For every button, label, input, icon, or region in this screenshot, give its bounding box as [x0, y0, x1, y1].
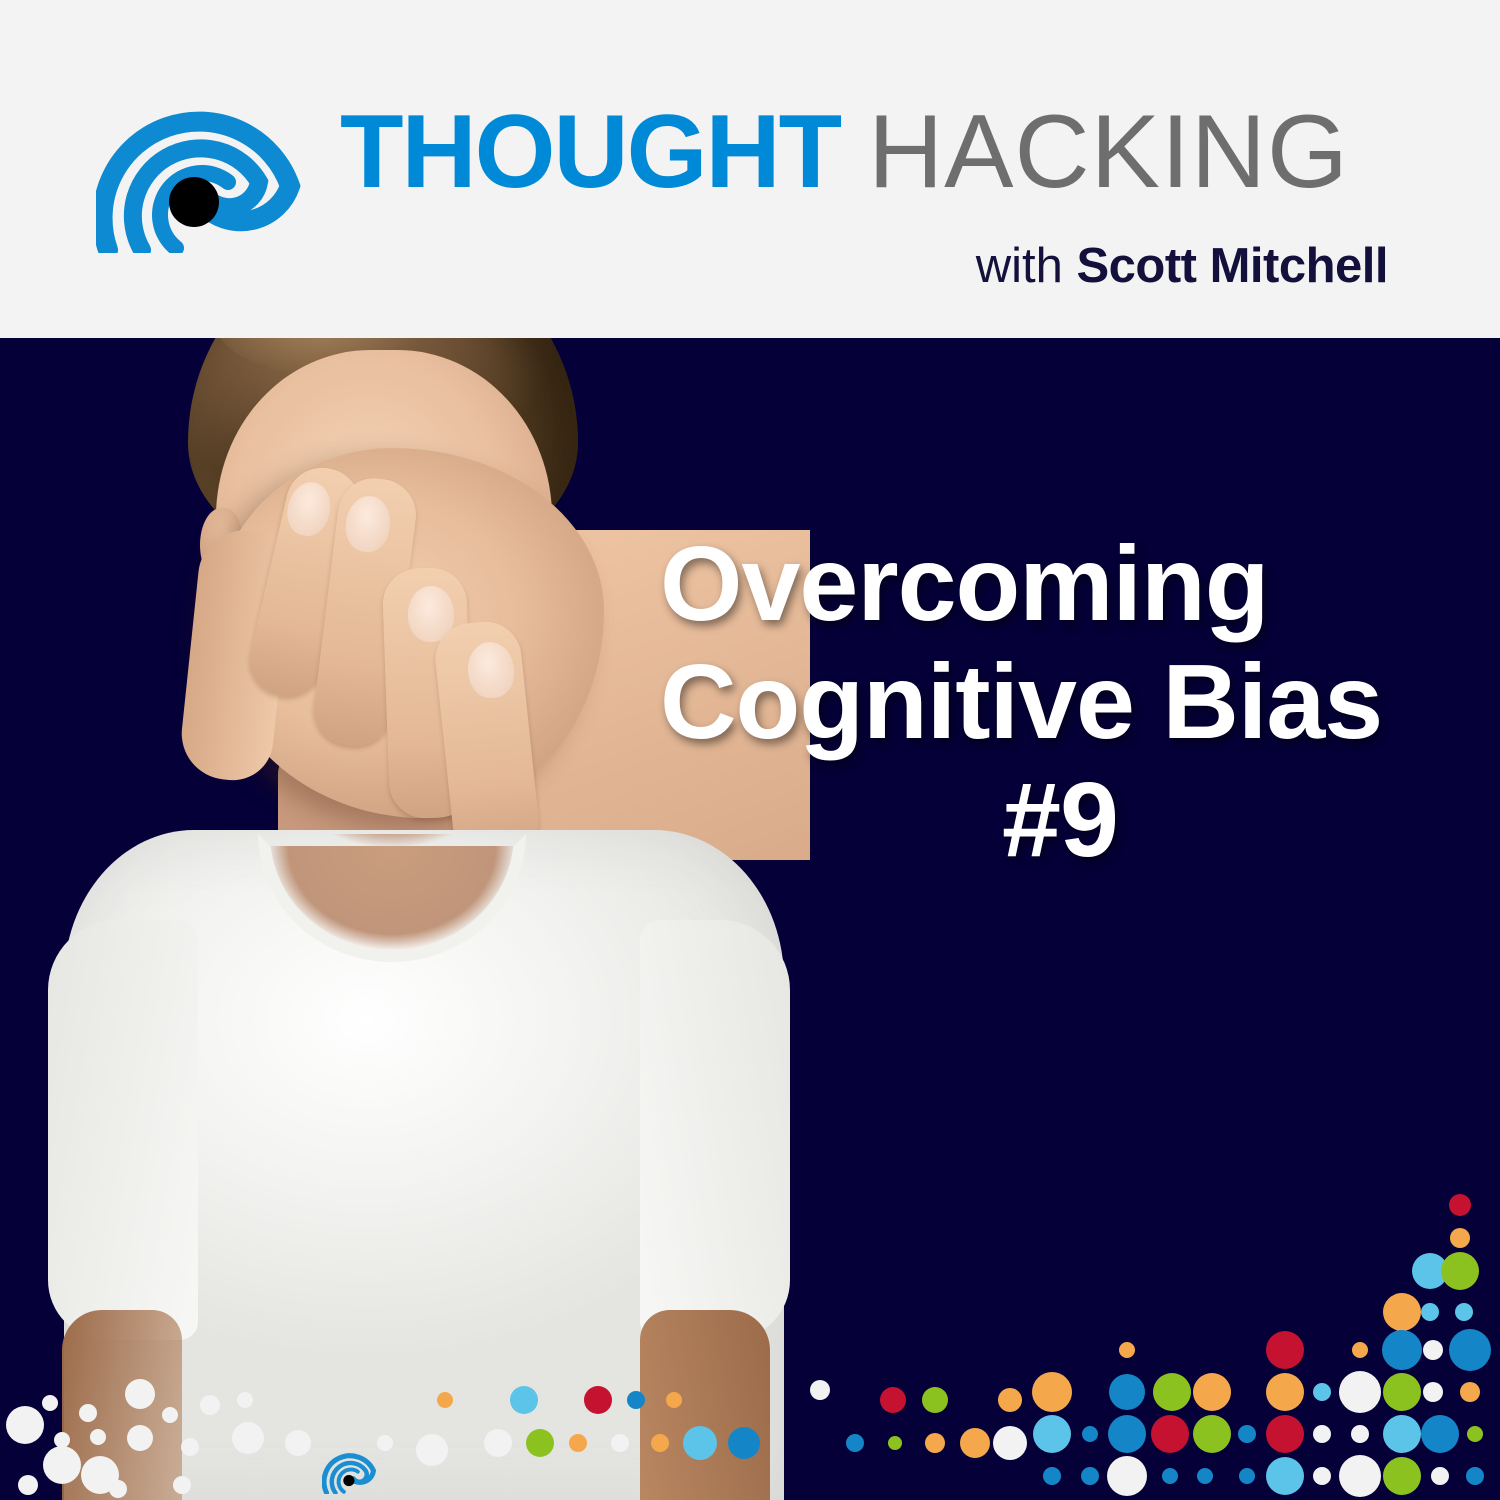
photo-sleeve-right	[640, 920, 790, 1340]
podcast-cover-art: Overcoming Cognitive Bias #9 THOUGHT HAC…	[0, 0, 1500, 1500]
episode-title-line-3: #9	[660, 761, 1460, 879]
episode-title-line-1: Overcoming	[660, 525, 1460, 643]
photo-arm-left	[62, 1310, 182, 1500]
photo-arm-right	[640, 1310, 770, 1500]
brain-spiral-logo-icon-small	[322, 1446, 378, 1494]
brand-wordmark: THOUGHT HACKING	[340, 96, 1349, 208]
brand-thought-text: THOUGHT	[340, 94, 840, 210]
byline-prefix: with	[976, 239, 1077, 293]
host-byline: with Scott Mitchell	[976, 238, 1388, 294]
logo-center-dot	[169, 177, 219, 227]
header-band: THOUGHT HACKING with Scott Mitchell	[0, 0, 1500, 338]
brain-spiral-logo-icon	[96, 78, 301, 253]
episode-title-line-2: Cognitive Bias	[660, 643, 1460, 761]
episode-title: Overcoming Cognitive Bias #9	[660, 525, 1460, 879]
brand-hacking-text: HACKING	[868, 94, 1349, 210]
logo-center-dot-small	[343, 1475, 354, 1486]
byline-host-name: Scott Mitchell	[1076, 239, 1388, 293]
photo-sleeve-left	[48, 920, 198, 1340]
